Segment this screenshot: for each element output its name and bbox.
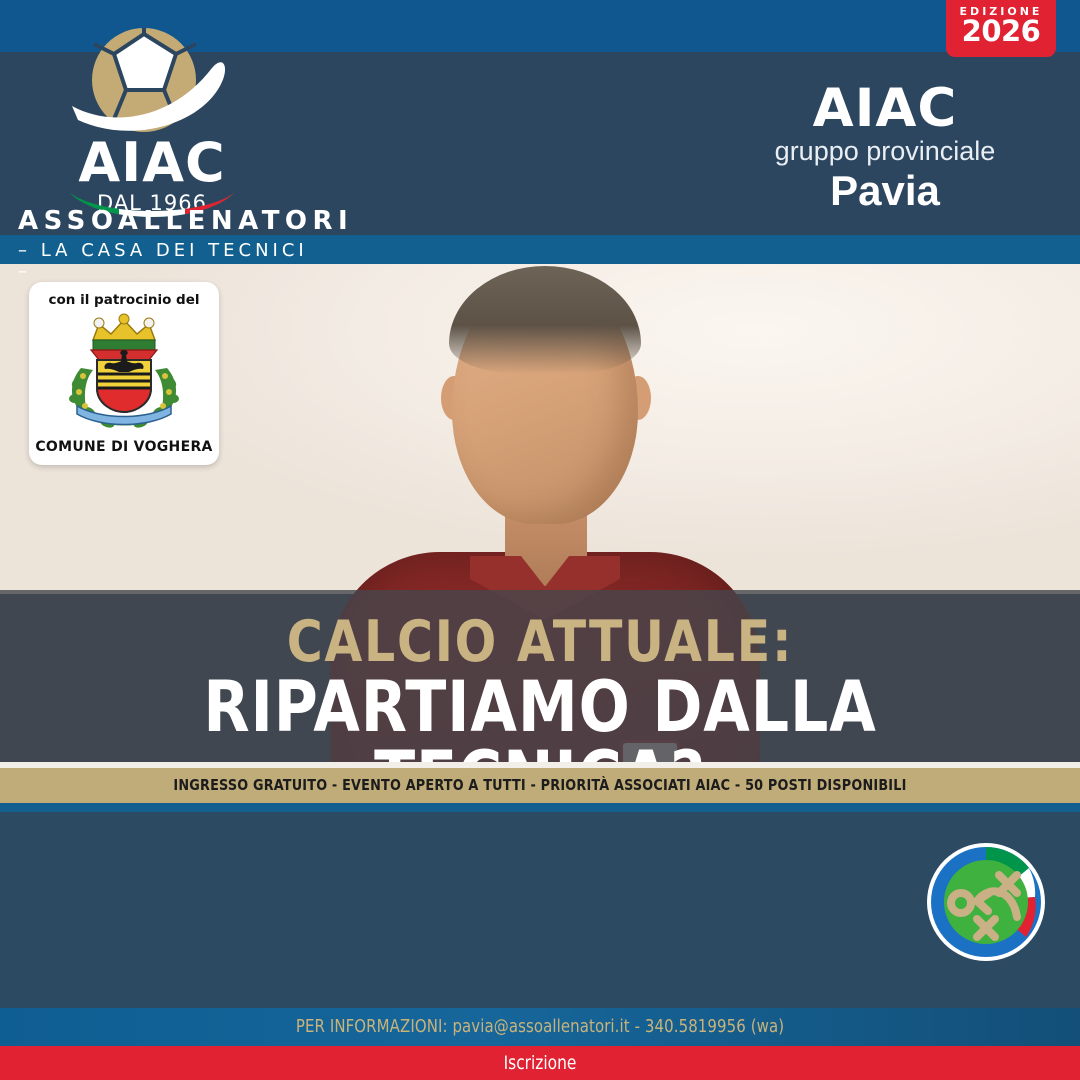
notice-bar: INGRESSO GRATUITO - EVENTO APERTO A TUTT… [0,768,1080,803]
association-name: ASSOALLENATORI [18,206,298,236]
patronage-entity: COMUNE DI VOGHERA [29,439,219,455]
group-province: Pavia [720,169,1050,213]
voghera-coat-of-arms-icon [49,310,199,430]
registration-bar: Iscrizione OBBLIGATORIA su www.myaiac.it [0,1046,1080,1080]
association-tagline: – LA CASA DEI TECNICI – [18,240,318,282]
contact-info-bar: PER INFORMAZIONI: pavia@assoallenatori.i… [0,1008,1080,1046]
aiac-ball-icon [52,28,252,138]
group-subtitle: gruppo provinciale [720,135,1050,169]
aiac-logo: AIAC DAL 1966 [52,28,252,223]
patronage-intro: con il patrocinio del [29,292,219,308]
edition-year: 2026 [946,18,1056,46]
portrait-hair [449,266,641,374]
aiac-wordmark: AIAC [52,136,252,190]
tactics-board-icon [925,841,1047,963]
edition-badge: EDIZIONE 2026 [946,0,1056,57]
info-separator-strip [0,803,1080,812]
group-name: AIAC [720,82,1050,135]
provincial-group-block: AIAC gruppo provinciale Pavia [720,82,1050,213]
registration-text: Iscrizione OBBLIGATORIA su www.myaiac.it [27,1046,1053,1080]
contact-info-text: PER INFORMAZIONI: pavia@assoallenatori.i… [27,1008,1053,1046]
registration-prefix: Iscrizione [53,1046,1028,1080]
event-poster: ★★★★ [0,0,1080,1080]
patronage-badge: con il patrocinio del [29,282,219,465]
title-line-1: CALCIO ATTUALE: [76,614,1005,671]
notice-bar-text: INGRESSO GRATUITO - EVENTO APERTO A TUTT… [43,768,1037,803]
event-details-section [0,812,1080,1008]
